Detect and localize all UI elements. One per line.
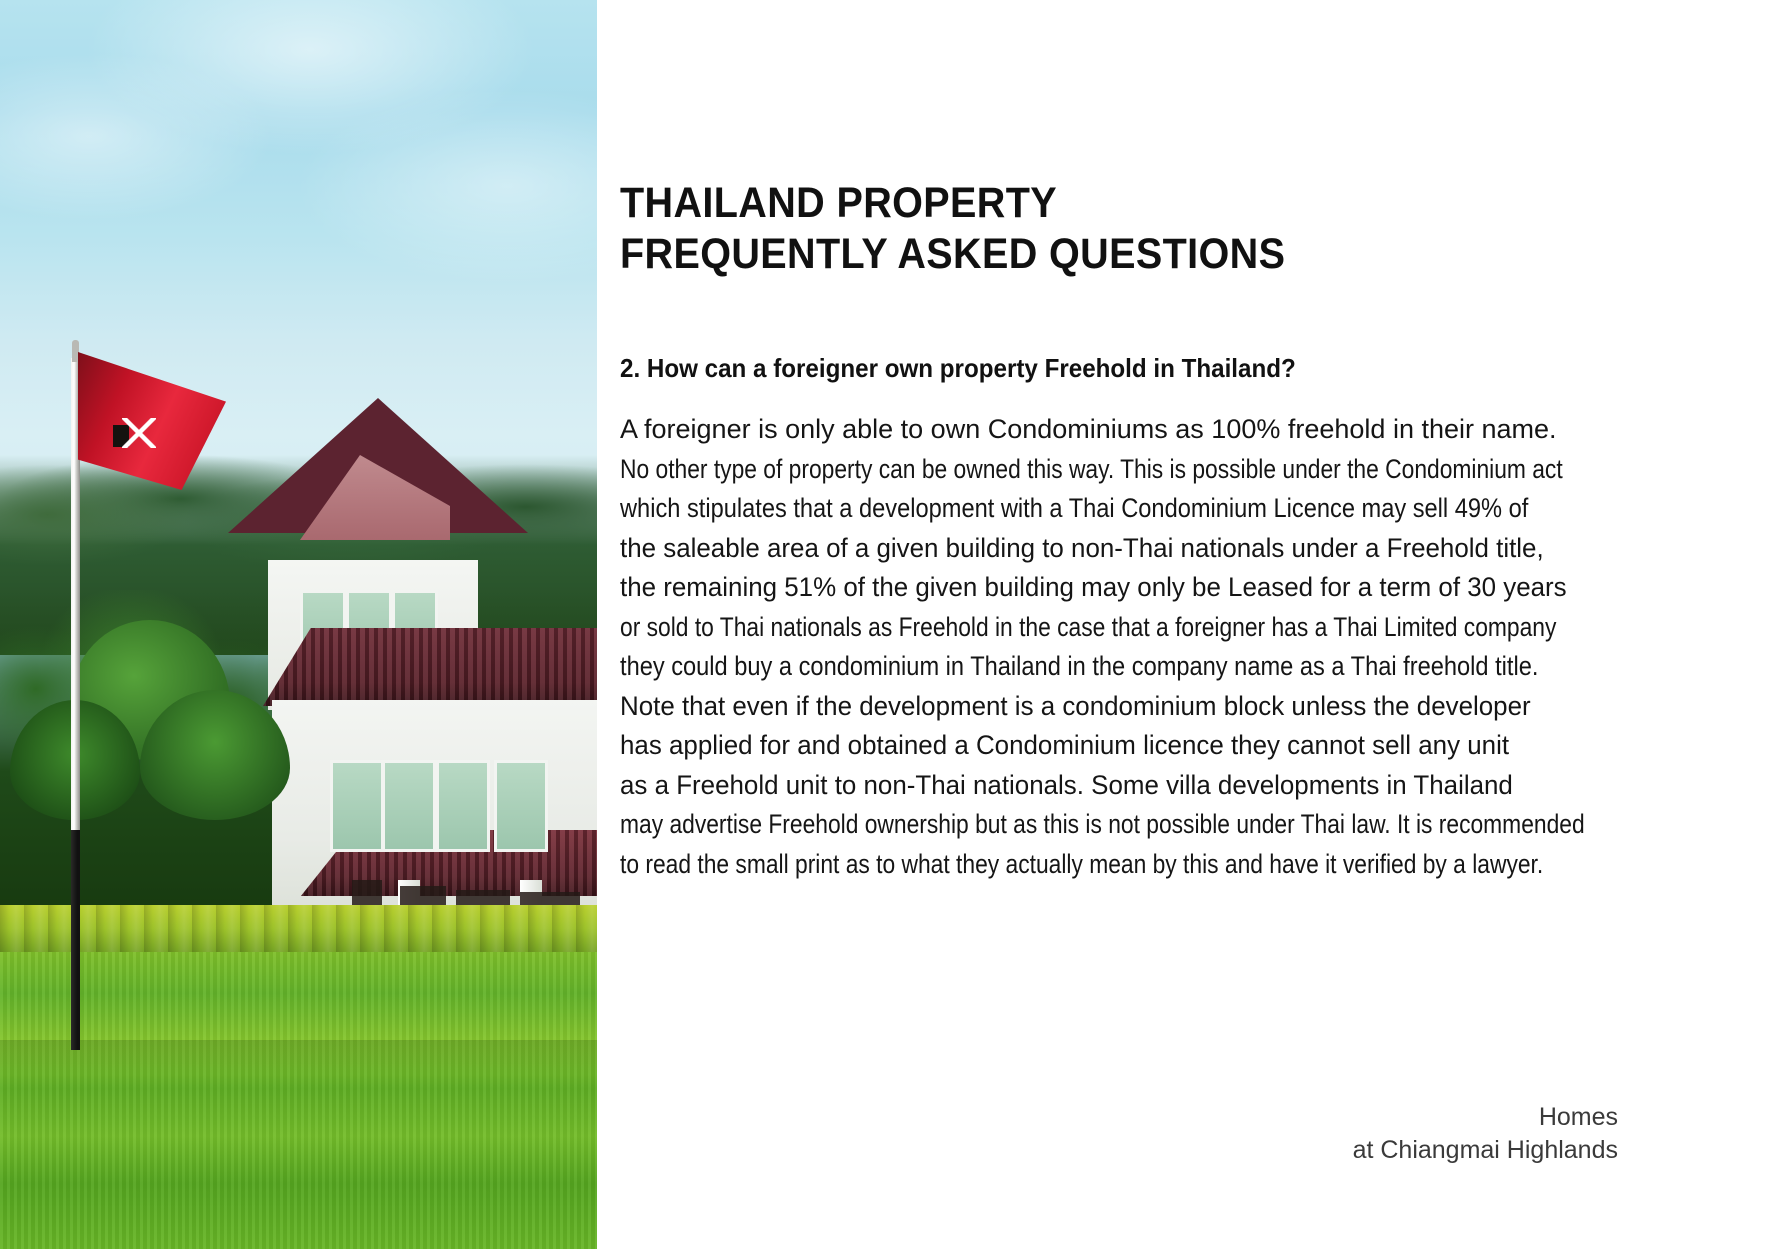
answer-line: which stipulates that a development with… bbox=[620, 489, 1530, 529]
golf-course-villa-photo bbox=[0, 0, 597, 1249]
faq-page: THAILAND PROPERTY FREQUENTLY ASKED QUEST… bbox=[0, 0, 1778, 1249]
hedge-row bbox=[0, 905, 597, 957]
answer-line: they could buy a condominium in Thailand… bbox=[620, 647, 1530, 687]
footer-line-1: Homes bbox=[1353, 1101, 1618, 1134]
golf-green-lawn bbox=[0, 952, 597, 1249]
answer-line: or sold to Thai nationals as Freehold in… bbox=[620, 608, 1499, 648]
faq-answer-body: A foreigner is only able to own Condomin… bbox=[620, 410, 1660, 884]
answer-line: No other type of property can be owned t… bbox=[620, 450, 1499, 490]
flag-logo-icon bbox=[122, 418, 156, 448]
flag-pole-lower bbox=[71, 830, 80, 1050]
page-title-line-1: THAILAND PROPERTY bbox=[620, 178, 1540, 229]
answer-line: to read the small print as to what they … bbox=[620, 845, 1499, 885]
lawn-shadow-band bbox=[0, 1040, 597, 1074]
window-lower-2 bbox=[382, 760, 436, 852]
footer-line-2: at Chiangmai Highlands bbox=[1353, 1134, 1618, 1167]
window-lower-1 bbox=[330, 760, 384, 852]
window-lower-3 bbox=[436, 760, 490, 852]
flag-pole-tip bbox=[72, 340, 79, 362]
answer-line: Note that even if the development is a c… bbox=[620, 687, 1618, 727]
answer-line: may advertise Freehold ownership but as … bbox=[620, 805, 1499, 845]
page-title-line-2: FREQUENTLY ASKED QUESTIONS bbox=[620, 229, 1540, 280]
faq-question-heading: 2. How can a foreigner own property Free… bbox=[620, 352, 1597, 384]
answer-line: as a Freehold unit to non-Thai nationals… bbox=[620, 766, 1618, 806]
answer-line: A foreigner is only able to own Condomin… bbox=[620, 410, 1660, 450]
answer-line: the remaining 51% of the given building … bbox=[620, 568, 1618, 608]
footer-branding: Homes at Chiangmai Highlands bbox=[1353, 1101, 1618, 1167]
page-title: THAILAND PROPERTY FREQUENTLY ASKED QUEST… bbox=[620, 178, 1620, 280]
answer-line: has applied for and obtained a Condomini… bbox=[620, 726, 1618, 766]
window-lower-4 bbox=[494, 760, 548, 852]
answer-line: the saleable area of a given building to… bbox=[620, 529, 1618, 569]
content-column: THAILAND PROPERTY FREQUENTLY ASKED QUEST… bbox=[620, 0, 1778, 1249]
